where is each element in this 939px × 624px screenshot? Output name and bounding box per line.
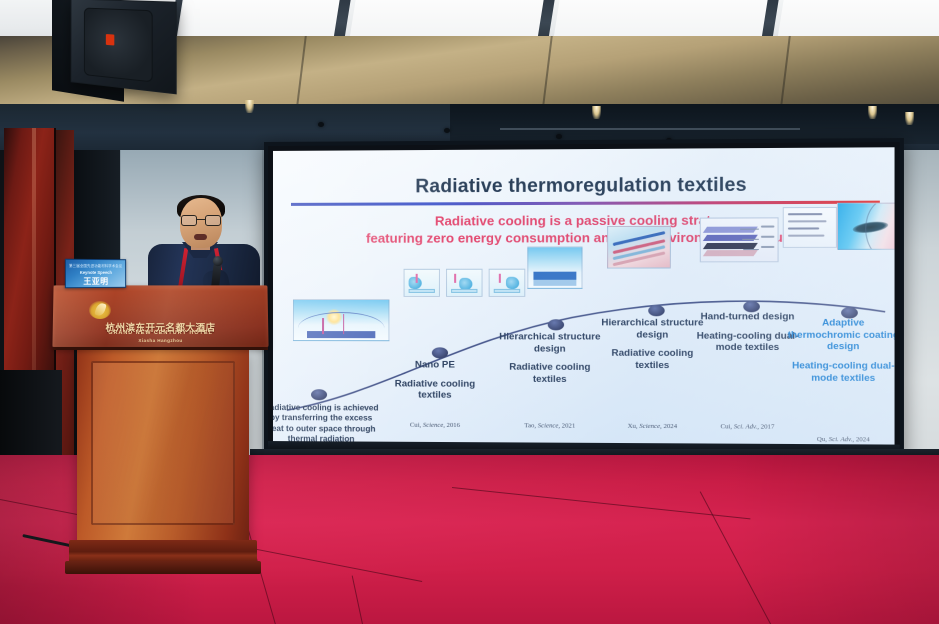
lens-left <box>181 215 197 226</box>
thumbnail-hierarchical-film <box>527 246 582 289</box>
molecule-bond <box>416 274 418 283</box>
hotel-city-label: Xiasha Hangzhou <box>53 338 268 343</box>
film-layer <box>534 280 577 286</box>
citation-journal: Science <box>538 422 559 429</box>
hotel-name-en: GRAND NEW CENTURY HOTEL <box>53 330 268 336</box>
ceiling-downlight <box>592 106 601 119</box>
podium-nameplate-display: 第三届全国先进功能材料学术会议 Keynote Speech 王亚明 <box>65 259 126 288</box>
milestone-citation: Tao, Science, 2021 <box>493 422 607 430</box>
citation-journal: Science <box>423 422 443 429</box>
list-row <box>788 234 824 236</box>
timeline-node <box>311 389 327 400</box>
molecule-label <box>451 289 477 293</box>
podium-front-panel <box>91 361 235 525</box>
citation-year: , 2021 <box>558 422 575 429</box>
citation-year: , 2024 <box>660 423 677 430</box>
citation-journal: Sci. Adv. <box>734 423 757 430</box>
callout-line <box>741 229 759 230</box>
thumbnail-polymer-structure-b <box>446 269 483 297</box>
timeline-curve <box>273 147 895 444</box>
callout-line <box>744 249 759 250</box>
citation-author: Tao, <box>524 422 536 429</box>
layer-stack-item <box>703 250 758 256</box>
callout-text <box>761 246 775 248</box>
milestone-2: Hierarchical structure design Radiative … <box>493 331 607 386</box>
ceiling-speaker-dot <box>318 122 324 127</box>
speaker-grille <box>84 8 153 83</box>
thumbnail-radiative-cooling-schematic <box>293 299 389 341</box>
conference-stage-photo: Radiative thermoregulation textiles Radi… <box>0 0 939 624</box>
thumbnail-property-list <box>783 207 837 248</box>
callout-text <box>761 236 775 238</box>
jbl-logo-icon <box>106 34 114 45</box>
nameplate-line1: 第三届全国先进功能材料学术会议 <box>66 263 125 268</box>
podium-base-plinth <box>65 561 261 574</box>
citation-year: , 2016 <box>443 422 460 429</box>
milestone-1: Nano PE Radiative cooling textiles Cui, … <box>378 359 491 402</box>
citation-year: , 2017 <box>757 423 774 430</box>
ceiling-downlight <box>868 106 877 119</box>
thumbnail-thermochromic-coating <box>837 203 895 250</box>
coating-ring <box>865 203 894 250</box>
citation-author: Qu, <box>817 436 827 443</box>
list-row <box>788 227 819 229</box>
citation-author: Xu, <box>628 423 638 430</box>
citation-author: Cui, <box>720 423 732 430</box>
citation-journal: Sci. Adv. <box>829 436 853 443</box>
soffit-rail <box>500 128 800 130</box>
ceiling-downlight <box>245 100 254 113</box>
slide-surface: Radiative thermoregulation textiles Radi… <box>273 147 895 444</box>
radiation-arrow <box>322 318 323 334</box>
thumbnail-polymer-structure-c <box>489 269 526 297</box>
thumbnail-polymer-structure-a <box>404 269 440 297</box>
milestone-kind-label: Heating-cooling dual-mode textiles <box>785 360 895 384</box>
list-row <box>788 220 827 222</box>
atmosphere-arc <box>298 312 385 328</box>
list-row <box>788 213 822 215</box>
molecule-bond <box>454 274 456 283</box>
ceiling-speaker-dot <box>444 128 450 133</box>
citation-author: Cui, <box>410 422 421 429</box>
milestone-design-label: Hierarchical structure design <box>493 331 607 355</box>
radiation-arrow <box>343 314 344 334</box>
molecule-label <box>409 289 435 293</box>
thumbnail-dual-mode-layers <box>700 217 779 262</box>
led-presentation-screen: Radiative thermoregulation textiles Radi… <box>264 138 904 461</box>
nameplate-line3: 王亚明 <box>66 276 125 287</box>
emitter-bar <box>307 331 375 338</box>
milestone-kind-label: Radiative cooling textiles <box>378 378 491 402</box>
citation-journal: Science <box>639 423 660 430</box>
milestone-citation: Cui, Sci. Adv., 2017 <box>689 423 805 431</box>
milestone-citation: Qu, Sci. Adv., 2024 <box>785 436 895 444</box>
thumbnail-fiber-cross-section <box>607 226 671 269</box>
timeline-node <box>548 319 564 330</box>
callout-line <box>742 239 759 240</box>
ceiling-speaker-dot <box>556 134 562 139</box>
presenter <box>148 196 260 296</box>
timeline-node <box>432 347 448 358</box>
molecule-label <box>494 289 520 293</box>
milestone-design-label: Nano PE <box>378 359 491 371</box>
molecule-bond <box>499 274 501 283</box>
milestone-design-label: Radiative cooling is achieved by transfe… <box>273 403 379 445</box>
timeline-node <box>648 305 664 316</box>
ceiling-downlight <box>905 112 914 125</box>
milestone-0: Radiative cooling is achieved by transfe… <box>273 403 379 445</box>
citation-year: , 2024 <box>852 436 869 443</box>
hotel-logo-icon <box>89 301 111 319</box>
jbl-loudspeaker <box>71 0 177 94</box>
nameplate-line2: Keynote Speech <box>66 270 125 275</box>
milestone-citation: Cui, Science, 2016 <box>378 422 491 430</box>
lens-right <box>205 215 221 226</box>
eyeglasses-icon <box>181 215 221 226</box>
glasses-bridge <box>197 219 205 220</box>
presenter-mouth <box>194 234 207 240</box>
callout-text <box>761 226 775 228</box>
layer-stack-item <box>703 227 758 233</box>
milestone-design-label: Adaptive thermochromic coating design <box>785 317 895 353</box>
podium-body <box>77 349 249 547</box>
milestone-5: Adaptive thermochromic coating design He… <box>785 317 895 384</box>
molecule-blob <box>506 277 519 289</box>
milestone-kind-label: Radiative cooling textiles <box>493 362 607 386</box>
